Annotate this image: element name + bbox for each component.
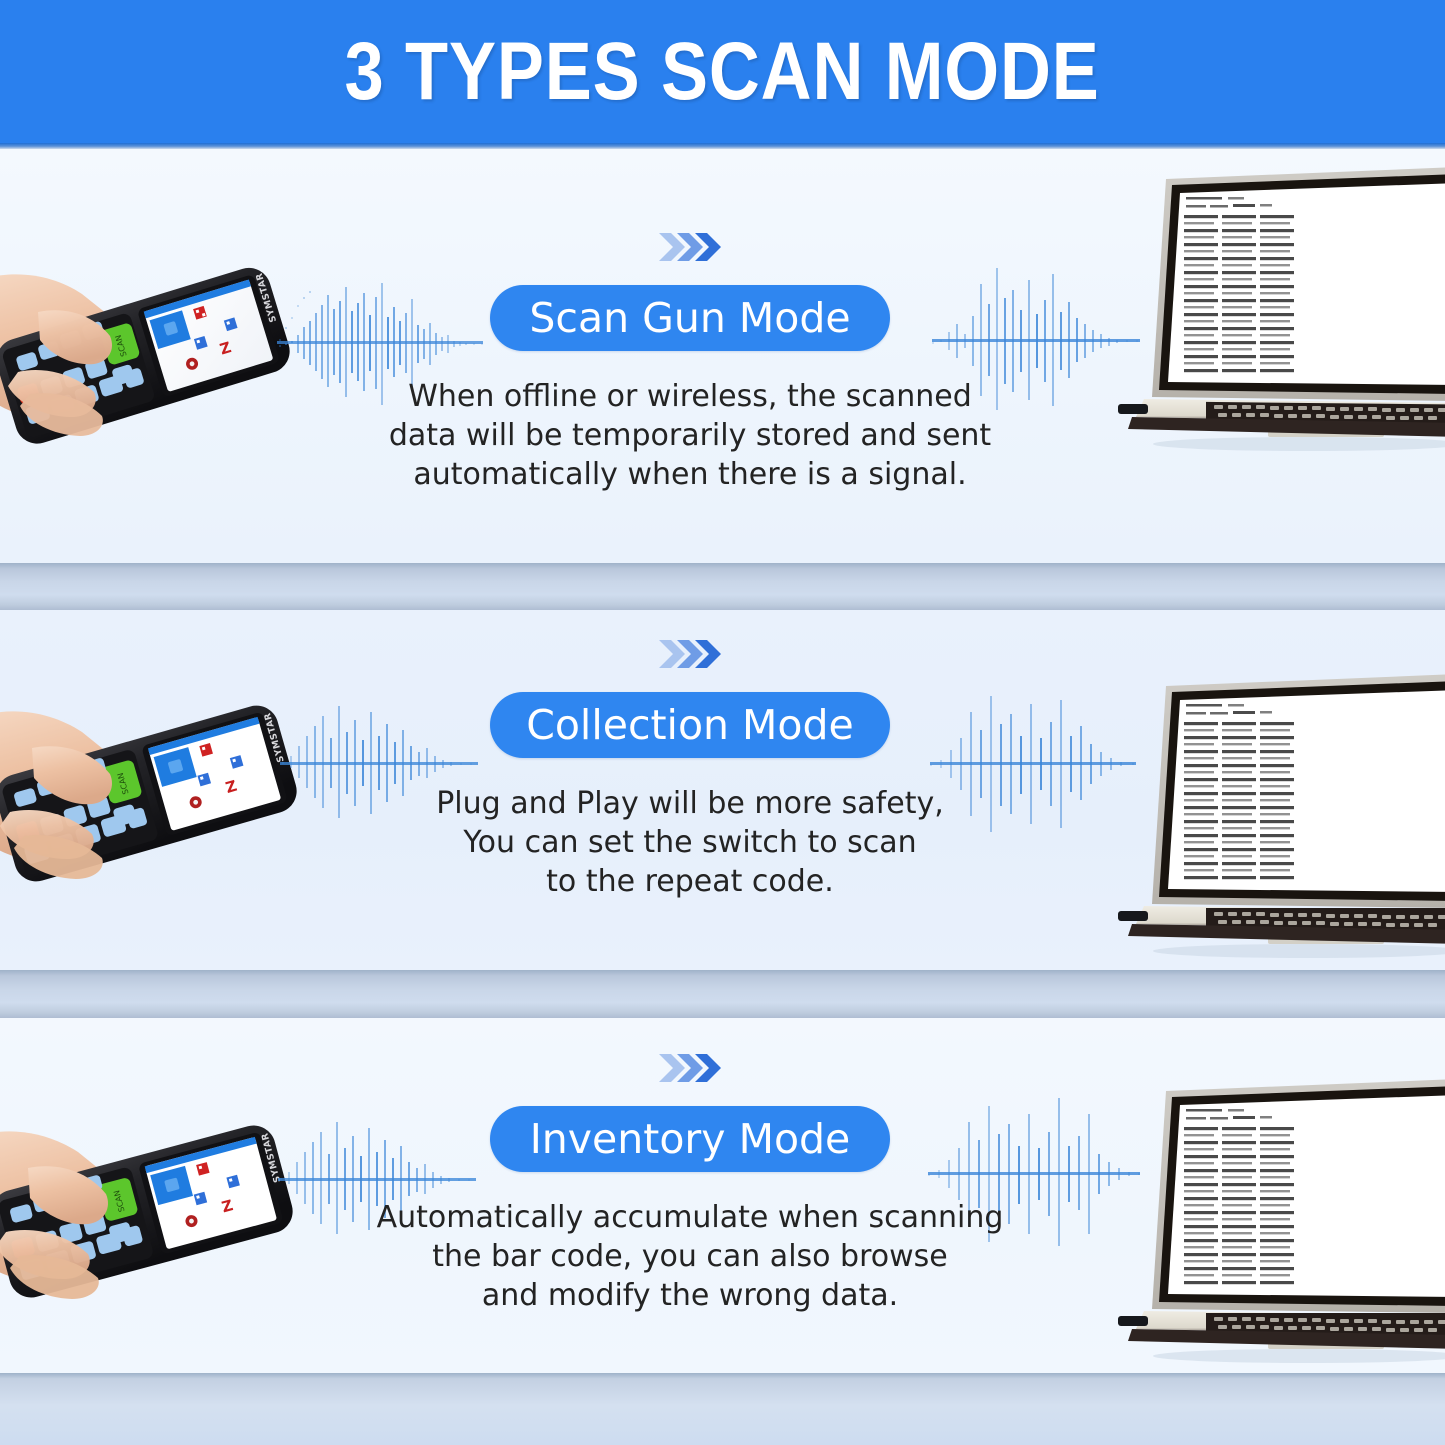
triple-chevron-right-icon (657, 227, 723, 267)
handheld-scanner-1: Z SYMSTAR SCAN (0, 254, 312, 454)
laptop-2 (1118, 668, 1445, 970)
mode-description: Automatically accumulate when scanning t… (377, 1198, 1004, 1315)
panel-collection: Z SYMSTAR SCAN (0, 610, 1445, 970)
mode-description: Plug and Play will be more safety, You c… (436, 784, 944, 901)
triple-chevron-right-icon (657, 634, 723, 674)
mode-badge-scan-gun[interactable]: Scan Gun Mode (490, 285, 890, 351)
infographic-page: 3 TYPES SCAN MODE (0, 0, 1445, 1445)
mode-badge-label: Collection Mode (526, 705, 854, 746)
panel-separator-2 (0, 970, 1445, 1018)
panel-inventory: Z SYMSTAR SCAN (0, 1018, 1445, 1373)
panel-1-content: Scan Gun Mode When offline or wireless, … (330, 227, 1050, 494)
panel-3-content: Inventory Mode Automatically accumulate … (330, 1048, 1050, 1315)
mode-badge-label: Scan Gun Mode (529, 298, 850, 339)
panel-2-content: Collection Mode Plug and Play will be mo… (330, 634, 1050, 901)
panel-scan-gun: Z SYMSTAR SCAN (0, 149, 1445, 563)
mode-description: When offline or wireless, the scanned da… (389, 377, 991, 494)
handheld-scanner-3: Z SYMSTAR SCAN (0, 1098, 314, 1313)
panel-separator-1 (0, 563, 1445, 610)
triple-chevron-right-icon (657, 1048, 723, 1088)
mode-badge-collection[interactable]: Collection Mode (490, 692, 890, 758)
laptop-3 (1118, 1073, 1445, 1373)
laptop-1 (1118, 161, 1445, 561)
page-title: 3 TYPES SCAN MODE (345, 25, 1100, 119)
mode-badge-inventory[interactable]: Inventory Mode (490, 1106, 890, 1172)
mode-badge-label: Inventory Mode (530, 1119, 851, 1160)
bottom-band (0, 1373, 1445, 1445)
header-banner: 3 TYPES SCAN MODE (0, 0, 1445, 143)
handheld-scanner-2: Z SYMSTAR SCAN (0, 682, 318, 897)
